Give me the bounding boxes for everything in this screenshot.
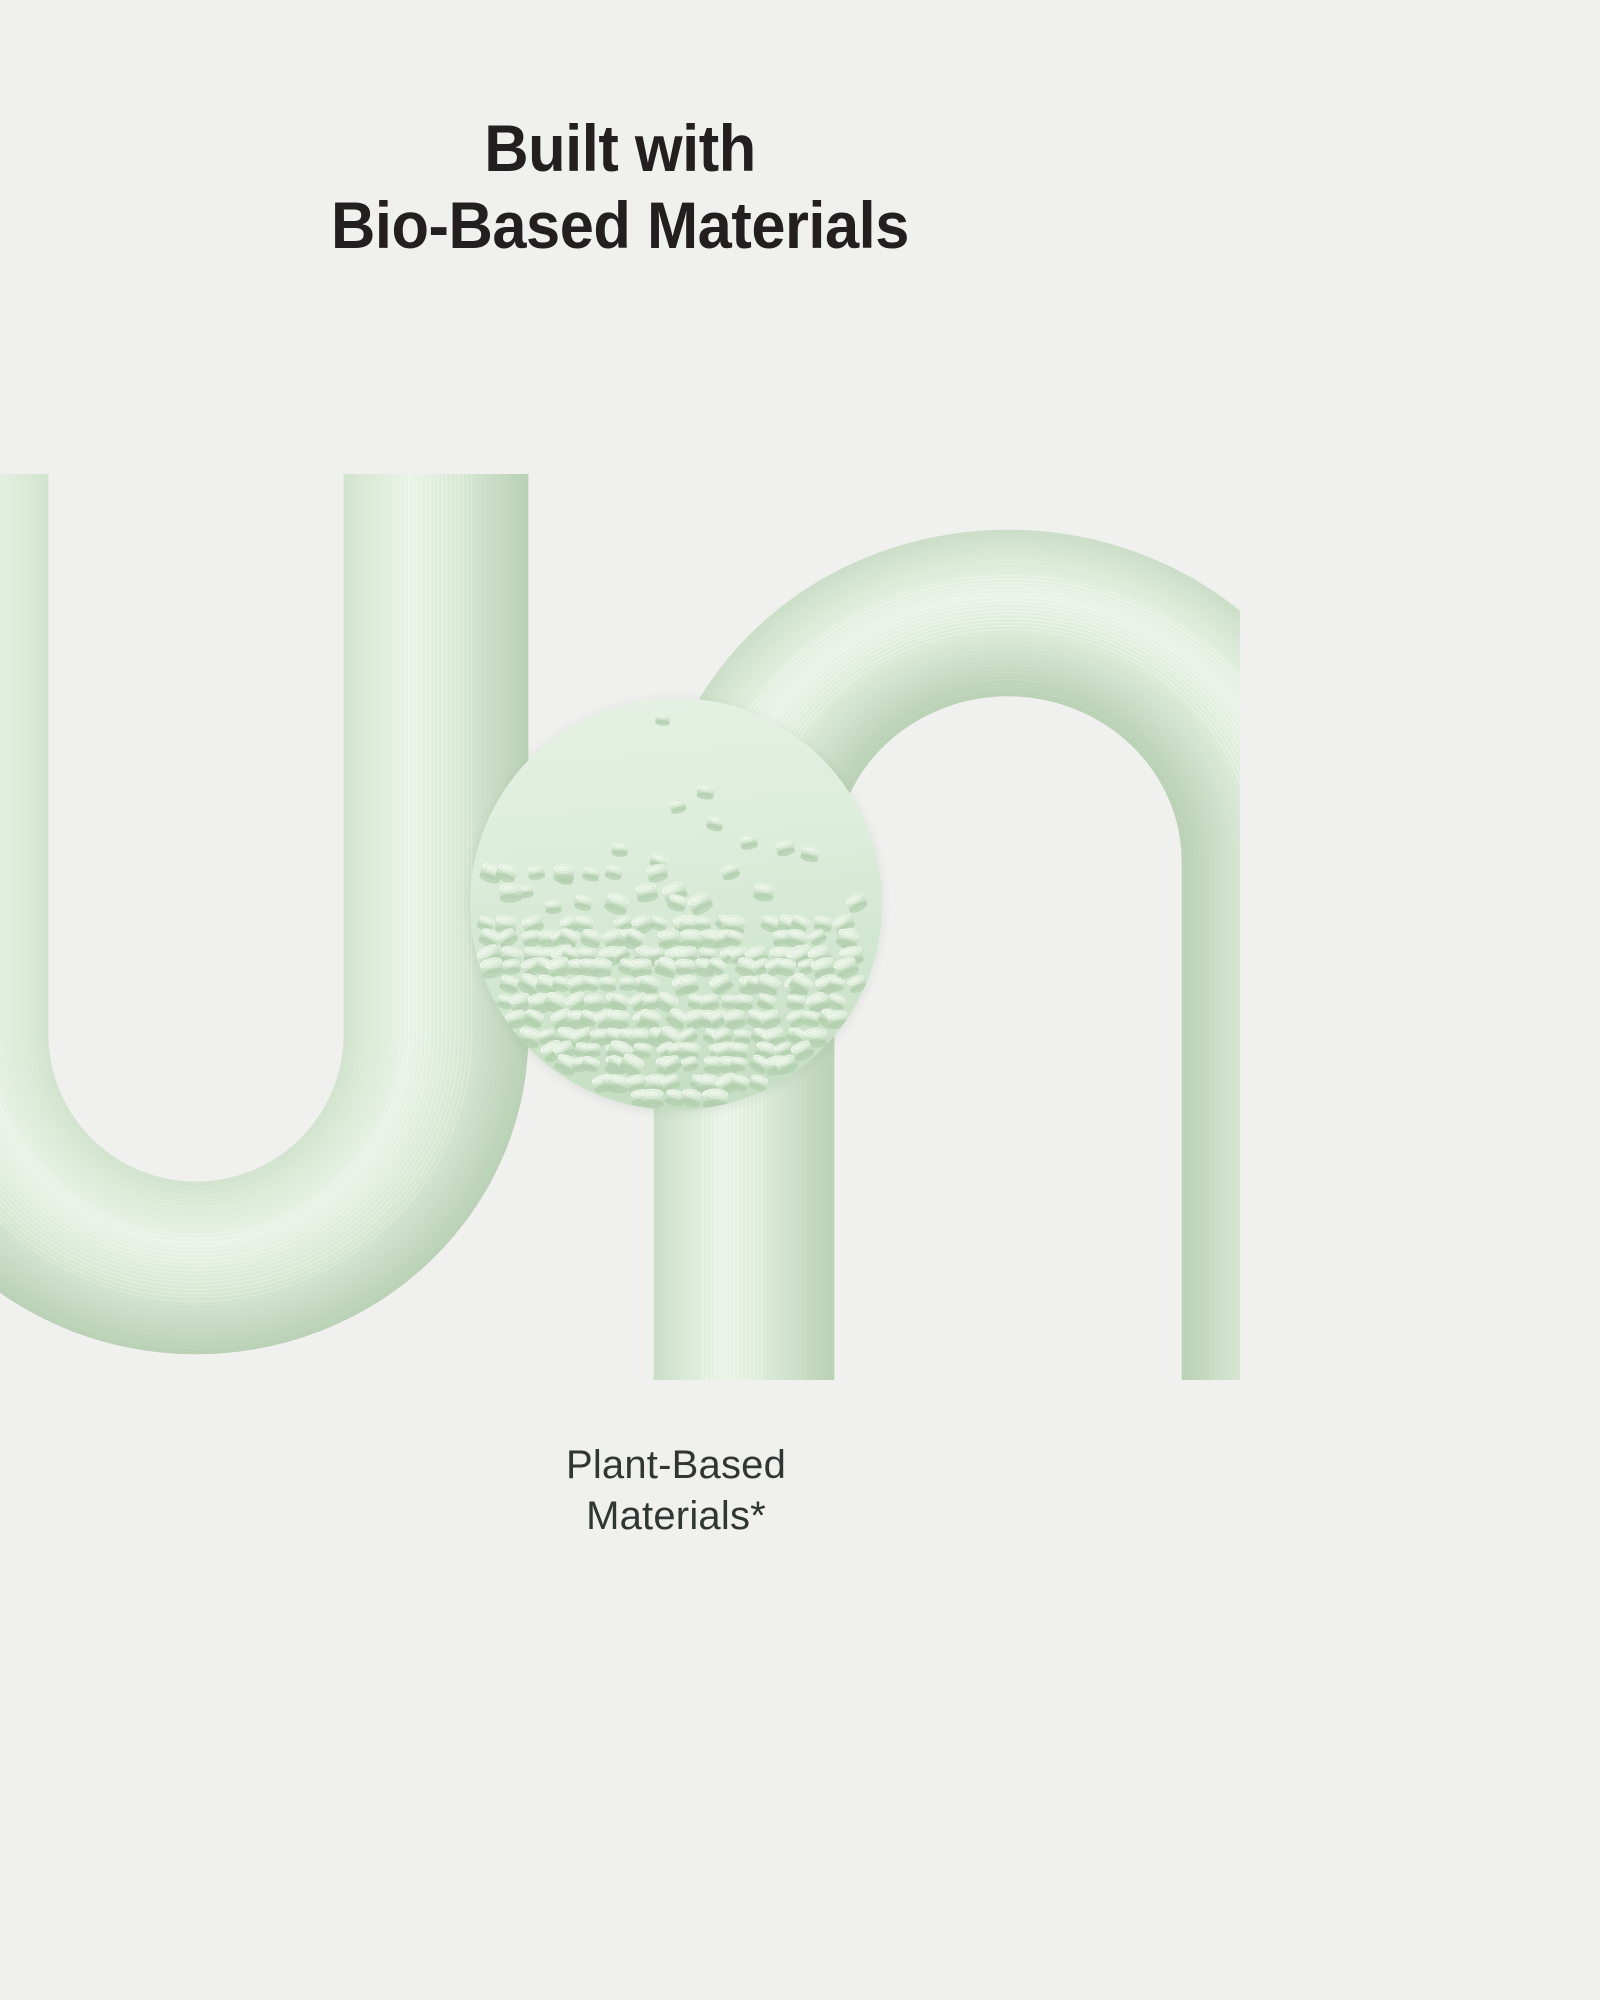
plant-based-pellets-circle xyxy=(470,698,882,1110)
cable-strand xyxy=(13,474,380,1215)
plastic-pellet xyxy=(589,957,612,978)
plastic-pellet xyxy=(844,891,869,915)
plastic-pellet xyxy=(694,916,711,931)
plastic-pellet xyxy=(599,976,617,992)
plastic-pellet xyxy=(748,1073,769,1093)
plastic-pellet xyxy=(607,1009,630,1030)
cable-strand xyxy=(33,474,358,1196)
cable-strand-highlight xyxy=(33,474,358,1196)
cable-strand xyxy=(17,474,376,1211)
cable-strand-highlight xyxy=(38,474,355,1192)
plastic-pellet xyxy=(786,993,805,1011)
cable-strand-highlight xyxy=(832,694,1184,1382)
plastic-pellet xyxy=(753,883,775,903)
cable-strand xyxy=(46,474,346,1184)
plastic-pellet xyxy=(699,993,720,1013)
cable-strand-highlight xyxy=(828,690,1188,1382)
pellet-caption: Plant-Based Materials* xyxy=(470,1440,882,1542)
plastic-pellet xyxy=(553,864,574,882)
plastic-pellet xyxy=(734,1029,751,1044)
plastic-pellet xyxy=(704,1088,729,1110)
cable-strand-highlight xyxy=(29,474,362,1200)
plastic-pellet xyxy=(719,862,741,882)
plastic-pellet xyxy=(582,865,601,883)
pellet-caption-line-2: Materials* xyxy=(470,1491,882,1542)
cable-strand xyxy=(21,474,371,1207)
plastic-pellet xyxy=(583,993,604,1012)
plastic-pellet xyxy=(604,864,623,882)
pellet-caption-line-1: Plant-Based xyxy=(470,1440,882,1491)
cable-strand-highlight xyxy=(25,474,367,1203)
cable-strand-highlight xyxy=(46,474,346,1184)
plastic-pellet xyxy=(635,881,659,904)
cable-strand-highlight xyxy=(13,474,380,1215)
cable-strand xyxy=(38,474,355,1192)
plastic-pellet xyxy=(545,899,563,915)
cable-strand-highlight xyxy=(17,474,376,1211)
artwork-mask xyxy=(0,0,1240,300)
plastic-pellet xyxy=(499,883,522,904)
plastic-pellet xyxy=(630,958,653,979)
plastic-pellet xyxy=(655,712,671,726)
marketing-banner: Built with Bio-Based Materials xyxy=(0,0,1240,1551)
plastic-pellet xyxy=(826,992,848,1013)
pellet-cluster xyxy=(470,698,882,1110)
plastic-pellet xyxy=(669,798,688,815)
plastic-pellet xyxy=(722,1008,746,1030)
plastic-pellet xyxy=(573,893,594,912)
plastic-pellet xyxy=(611,842,628,857)
cable-strand xyxy=(832,694,1184,1382)
plastic-pellet xyxy=(641,1089,663,1109)
cable-strand xyxy=(29,474,362,1200)
plastic-pellet xyxy=(675,958,695,976)
plastic-pellet xyxy=(734,994,753,1011)
cable-left-valley xyxy=(0,474,526,1352)
cable-strand xyxy=(25,474,367,1203)
cable-strand-highlight xyxy=(42,474,350,1188)
plastic-pellet xyxy=(754,972,782,998)
plastic-pellet xyxy=(774,838,795,858)
cable-strand xyxy=(828,690,1188,1382)
plastic-pellet xyxy=(686,889,715,917)
plastic-pellet xyxy=(705,815,724,833)
cable-strand xyxy=(42,474,350,1188)
plastic-pellet xyxy=(527,864,546,881)
cable-strand-highlight xyxy=(21,474,371,1207)
plastic-pellet xyxy=(800,844,821,863)
plastic-pellet xyxy=(739,833,759,851)
plastic-pellet xyxy=(619,977,636,992)
plastic-pellet xyxy=(696,784,715,801)
plastic-pellet xyxy=(603,890,632,917)
plastic-pellet xyxy=(583,1042,600,1058)
